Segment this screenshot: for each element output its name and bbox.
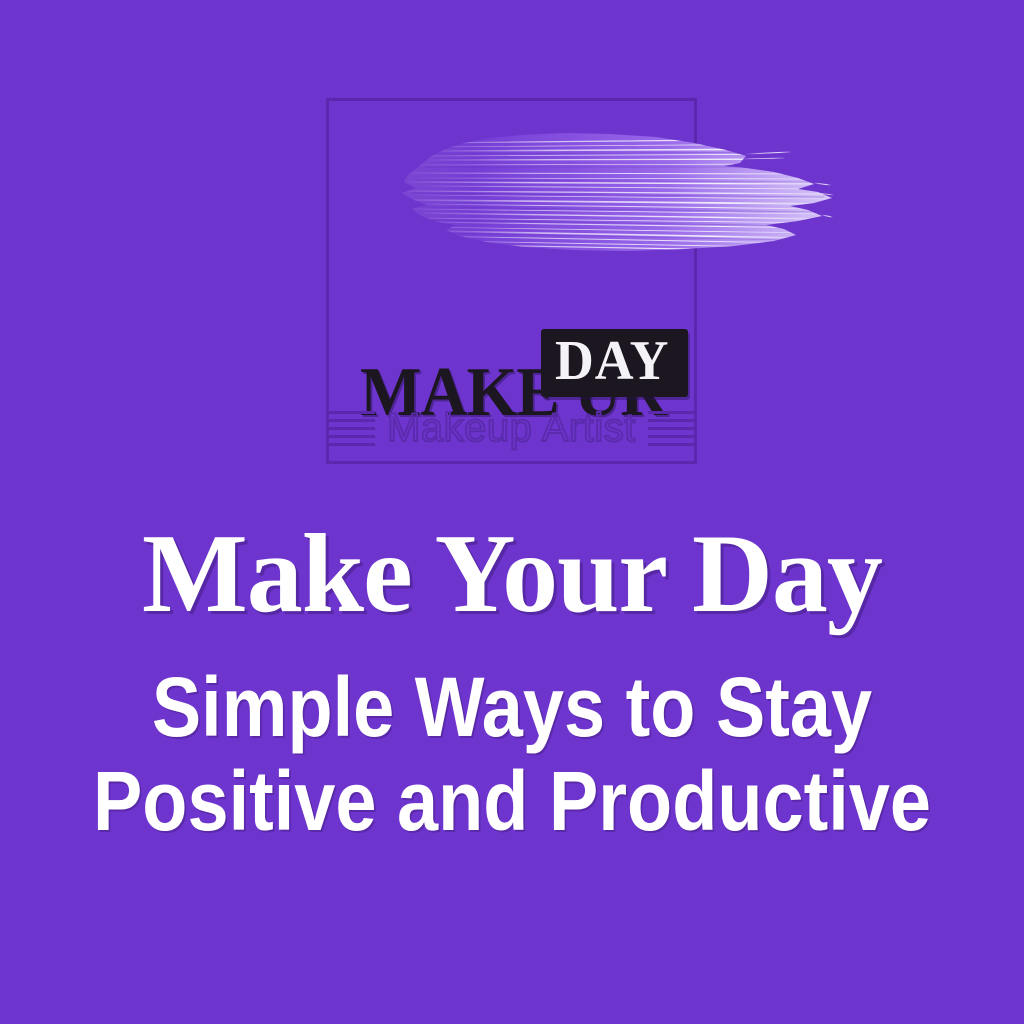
page-subtitle: Simple Ways to Stay Positive and Product…	[0, 660, 1024, 848]
rule-line	[329, 443, 375, 446]
logo-day-badge: DAY	[541, 329, 688, 397]
page-title: Make Your Day	[0, 518, 1024, 630]
rule-group-left	[329, 411, 375, 446]
rule-line	[648, 427, 694, 430]
page-subtitle-line-1: Simple Ways to Stay	[61, 660, 962, 754]
rule-line	[648, 443, 694, 446]
rule-line	[329, 427, 375, 430]
brand-logo: MAKE UR DAY Makeup Artist	[326, 98, 697, 464]
rule-line	[329, 419, 375, 422]
logo-tagline-text: Makeup Artist	[387, 408, 636, 448]
logo-tagline-row: Makeup Artist	[326, 400, 697, 456]
rule-line	[648, 419, 694, 422]
logo-day-badge-label: DAY	[555, 333, 669, 389]
rule-line	[648, 435, 694, 438]
page-subtitle-line-2: Positive and Productive	[61, 754, 962, 848]
rule-line	[329, 411, 375, 414]
rule-line	[329, 435, 375, 438]
poster-canvas: MAKE UR DAY Makeup Artist Mak	[0, 0, 1024, 1024]
rule-line	[648, 411, 694, 414]
rule-group-right	[648, 411, 694, 446]
